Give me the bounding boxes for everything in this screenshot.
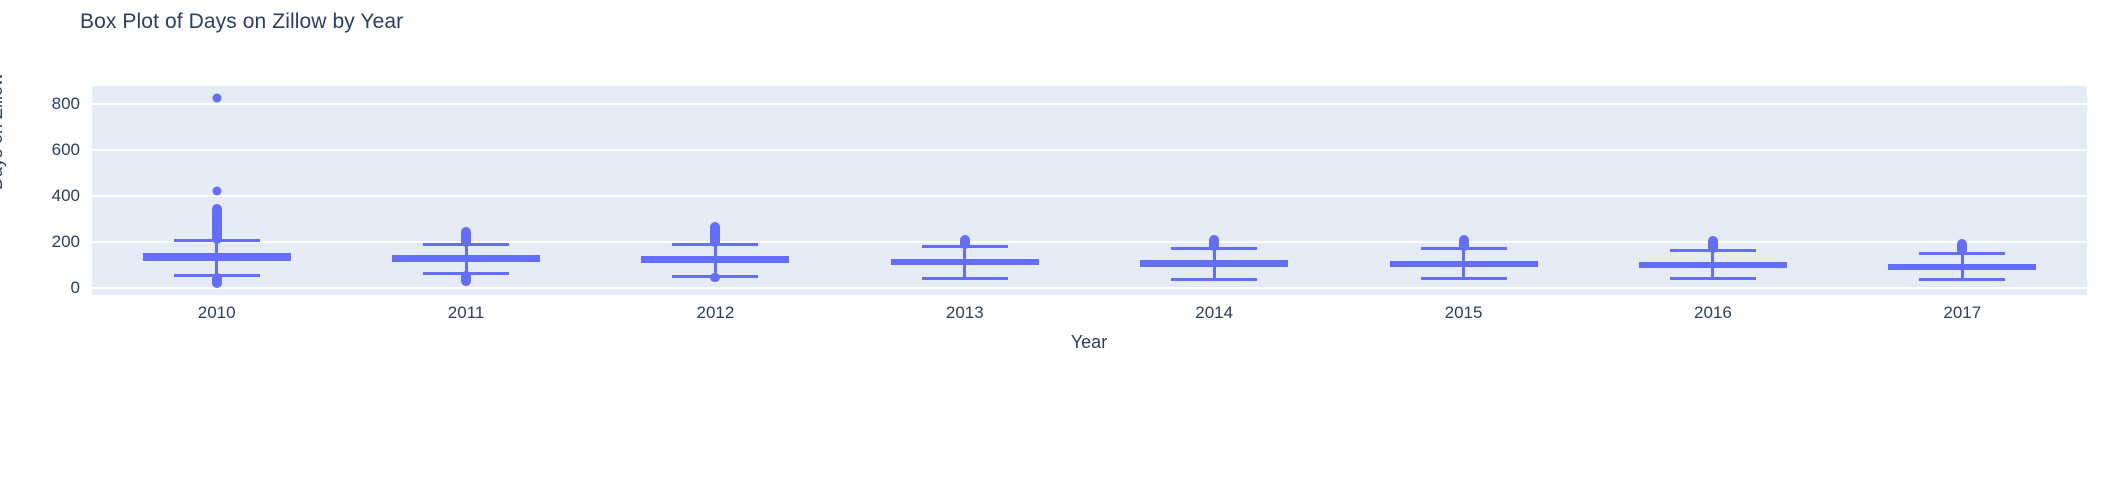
outlier-cluster-high — [1459, 235, 1469, 250]
y-axis-tick-label: 0 — [20, 278, 80, 298]
y-axis-tick-mark — [85, 287, 91, 289]
median-line — [891, 261, 1039, 264]
plot-area — [92, 86, 2087, 295]
x-axis-tick-label-2012: 2012 — [697, 303, 735, 323]
box-plot-2015[interactable] — [1390, 86, 1538, 295]
y-axis-tick-label: 600 — [20, 140, 80, 160]
box-plot-2010[interactable] — [143, 86, 291, 295]
outlier-cluster-high — [1209, 235, 1219, 250]
x-axis-tick-label-2014: 2014 — [1195, 303, 1233, 323]
box-plot-2011[interactable] — [392, 86, 540, 295]
box-plot-2012[interactable] — [641, 86, 789, 295]
lower-whisker-cap — [1421, 277, 1507, 280]
median-line — [1390, 263, 1538, 266]
outlier-cluster-high — [461, 227, 471, 248]
x-axis-tick-label-2013: 2013 — [946, 303, 984, 323]
outlier-cluster-low — [461, 271, 471, 285]
upper-whisker — [1462, 249, 1465, 261]
lower-whisker-cap — [1171, 278, 1257, 281]
upper-whisker — [1711, 251, 1714, 262]
outlier-cluster-high — [212, 204, 222, 244]
y-axis-tick-mark — [85, 195, 91, 197]
box-plot-2013[interactable] — [891, 86, 1039, 295]
median-line — [1639, 264, 1787, 267]
y-axis-tick-label: 400 — [20, 186, 80, 206]
outlier-point — [212, 94, 221, 103]
median-line — [392, 257, 540, 260]
outlier-cluster-low — [710, 273, 720, 282]
x-axis-tick-label-2017: 2017 — [1943, 303, 1981, 323]
outlier-cluster-low — [212, 273, 222, 288]
y-axis-tick-label: 800 — [20, 94, 80, 114]
x-axis-tick-label-2011: 2011 — [448, 303, 485, 323]
outlier-cluster-high — [960, 235, 970, 249]
outlier-cluster-high — [1708, 236, 1718, 252]
median-line — [143, 256, 291, 259]
x-axis-tick-label-2016: 2016 — [1694, 303, 1732, 323]
y-axis-tick-label: 200 — [20, 232, 80, 252]
box-plot-2016[interactable] — [1639, 86, 1787, 295]
x-axis-tick-label-2010: 2010 — [198, 303, 236, 323]
x-axis-tick-label-2015: 2015 — [1445, 303, 1483, 323]
median-line — [1140, 262, 1288, 265]
box-plot-2017[interactable] — [1888, 86, 2036, 295]
y-axis-title: Days on Zillow — [0, 73, 7, 190]
box-plot-figure: Box Plot of Days on Zillow by Year Days … — [0, 0, 2109, 478]
y-axis-tick-mark — [85, 241, 91, 243]
y-axis-tick-mark — [85, 149, 91, 151]
lower-whisker-cap — [1919, 278, 2005, 281]
outlier-point — [212, 186, 221, 195]
outlier-cluster-high — [710, 222, 720, 247]
chart-title: Box Plot of Days on Zillow by Year — [80, 10, 403, 34]
y-axis-tick-mark — [85, 103, 91, 105]
median-line — [1888, 265, 2036, 268]
outlier-cluster-high — [1957, 239, 1967, 255]
lower-whisker-cap — [1670, 277, 1756, 280]
median-line — [641, 258, 789, 261]
lower-whisker-cap — [922, 277, 1008, 280]
box-plot-2014[interactable] — [1140, 86, 1288, 295]
x-axis-title: Year — [1071, 332, 1107, 353]
